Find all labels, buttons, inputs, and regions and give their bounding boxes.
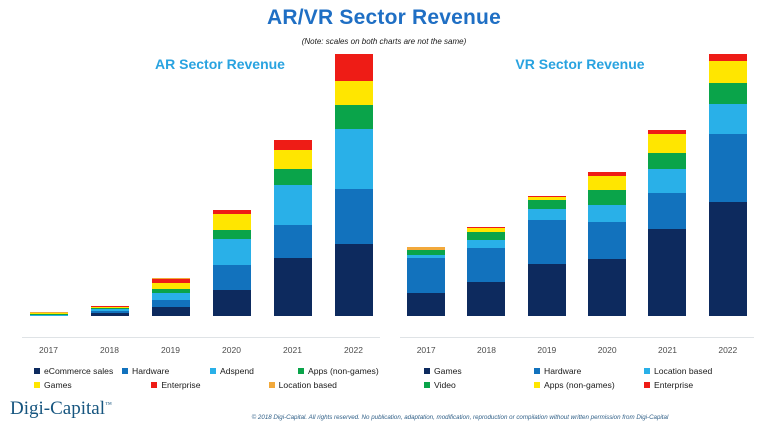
legend-swatch-icon: [534, 368, 540, 374]
x-tick-label: 2022: [323, 340, 384, 360]
bar-segment[interactable]: [213, 290, 251, 316]
ar-bar-slot-2022: [323, 88, 384, 316]
scale-note: (Note: scales on both charts are not the…: [0, 37, 768, 46]
ar-bar-slot-2020: [201, 88, 262, 316]
bar-segment[interactable]: [335, 105, 373, 129]
legend-label: Apps (non-games): [308, 366, 379, 376]
bar-segment[interactable]: [152, 300, 190, 307]
bar-segment[interactable]: [274, 140, 312, 149]
legend-item[interactable]: Enterprise: [644, 380, 754, 390]
x-tick-label: 2019: [517, 340, 577, 360]
legend-item[interactable]: Apps (non-games): [534, 380, 644, 390]
vr-legend: GamesHardwareLocation basedVideoApps (no…: [424, 366, 754, 394]
slide: AR/VR Sector Revenue (Note: scales on bo…: [0, 0, 768, 432]
stacked-bar[interactable]: [152, 278, 190, 316]
ar-chart: 201720182019202020212022: [18, 88, 384, 360]
bar-segment[interactable]: [588, 205, 626, 222]
bar-segment[interactable]: [528, 264, 566, 316]
bar-segment[interactable]: [709, 134, 747, 202]
ar-bar-slot-2018: [79, 88, 140, 316]
bar-segment[interactable]: [648, 153, 686, 170]
legend-item[interactable]: eCommerce sales: [34, 366, 122, 376]
bar-segment[interactable]: [91, 313, 129, 316]
legend-item[interactable]: Adspend: [210, 366, 298, 376]
bar-segment[interactable]: [709, 61, 747, 83]
x-tick-label: 2018: [79, 340, 140, 360]
bar-segment[interactable]: [528, 220, 566, 264]
stacked-bar[interactable]: [407, 247, 445, 316]
legend-item[interactable]: Location based: [269, 380, 386, 390]
legend-label: Adspend: [220, 366, 254, 376]
legend-label: Location based: [654, 366, 712, 376]
bar-segment[interactable]: [709, 54, 747, 61]
legend-item[interactable]: Enterprise: [151, 380, 268, 390]
x-tick-label: 2017: [18, 340, 79, 360]
legend-swatch-icon: [644, 368, 650, 374]
ar-legend-row: eCommerce salesHardwareAdspendApps (non-…: [34, 366, 386, 376]
ar-chart-title: AR Sector Revenue: [60, 56, 380, 72]
bar-segment[interactable]: [467, 232, 505, 239]
vr-chart: 201720182019202020212022: [396, 88, 758, 360]
legend-item[interactable]: Location based: [644, 366, 754, 376]
legend-item[interactable]: Games: [34, 380, 151, 390]
bar-segment[interactable]: [30, 315, 68, 316]
legend-item[interactable]: Hardware: [534, 366, 644, 376]
company-logo-text: Digi-Capital: [10, 398, 105, 419]
vr-axis-line: [400, 337, 754, 338]
legend-swatch-icon: [122, 368, 128, 374]
stacked-bar[interactable]: [528, 196, 566, 316]
bar-segment[interactable]: [709, 202, 747, 316]
legend-label: Enterprise: [654, 380, 693, 390]
legend-swatch-icon: [151, 382, 157, 388]
bar-segment[interactable]: [335, 189, 373, 244]
bar-segment[interactable]: [648, 134, 686, 153]
bar-segment[interactable]: [335, 54, 373, 81]
bar-segment[interactable]: [274, 150, 312, 170]
bar-segment[interactable]: [407, 293, 445, 316]
legend-label: Location based: [279, 380, 337, 390]
bar-segment[interactable]: [213, 230, 251, 239]
ar-bar-slot-2021: [262, 88, 323, 316]
copyright-text: © 2018 Digi-Capital. All rights reserved…: [160, 414, 760, 421]
bar-segment[interactable]: [648, 169, 686, 193]
vr-bar-slot-2018: [456, 88, 516, 316]
legend-label: Games: [44, 380, 72, 390]
x-tick-label: 2018: [456, 340, 516, 360]
vr-bar-slot-2017: [396, 88, 456, 316]
vr-legend-row: VideoApps (non-games)Enterprise: [424, 380, 754, 390]
legend-swatch-icon: [424, 382, 430, 388]
x-tick-label: 2020: [577, 340, 637, 360]
company-logo: Digi-Capital™: [10, 398, 112, 420]
x-tick-label: 2019: [140, 340, 201, 360]
vr-plot-area: [396, 88, 758, 338]
bar-segment[interactable]: [588, 190, 626, 205]
vr-bar-slot-2021: [637, 88, 697, 316]
vr-bar-slot-2020: [577, 88, 637, 316]
ar-legend-row: GamesEnterpriseLocation based: [34, 380, 386, 390]
ar-bar-group: [18, 88, 384, 316]
legend-label: Hardware: [544, 366, 581, 376]
trademark-mark: ™: [105, 401, 112, 409]
legend-label: Enterprise: [161, 380, 200, 390]
bar-segment[interactable]: [335, 129, 373, 189]
bar-segment[interactable]: [467, 240, 505, 248]
bar-segment[interactable]: [648, 229, 686, 316]
stacked-bar[interactable]: [274, 140, 312, 316]
legend-swatch-icon: [34, 382, 40, 388]
ar-legend: eCommerce salesHardwareAdspendApps (non-…: [34, 366, 386, 394]
bar-segment[interactable]: [467, 282, 505, 316]
legend-swatch-icon: [424, 368, 430, 374]
bar-segment[interactable]: [709, 104, 747, 133]
legend-item[interactable]: Games: [424, 366, 534, 376]
ar-bar-slot-2019: [140, 88, 201, 316]
x-tick-label: 2020: [201, 340, 262, 360]
bar-segment[interactable]: [588, 222, 626, 260]
legend-label: Apps (non-games): [544, 380, 615, 390]
bar-segment[interactable]: [274, 225, 312, 259]
vr-bar-slot-2019: [517, 88, 577, 316]
ar-plot-area: [18, 88, 384, 338]
stacked-bar[interactable]: [648, 130, 686, 317]
legend-label: Hardware: [132, 366, 169, 376]
bar-segment[interactable]: [528, 200, 566, 209]
legend-item[interactable]: Apps (non-games): [298, 366, 386, 376]
legend-swatch-icon: [210, 368, 216, 374]
stacked-bar[interactable]: [30, 312, 68, 316]
legend-label: Video: [434, 380, 456, 390]
stacked-bar[interactable]: [709, 54, 747, 316]
bar-segment[interactable]: [213, 239, 251, 265]
legend-item[interactable]: Video: [424, 380, 534, 390]
x-tick-label: 2017: [396, 340, 456, 360]
x-tick-label: 2022: [698, 340, 758, 360]
vr-chart-title: VR Sector Revenue: [420, 56, 740, 72]
stacked-bar[interactable]: [213, 210, 251, 316]
bar-segment[interactable]: [588, 176, 626, 191]
legend-swatch-icon: [298, 368, 304, 374]
stacked-bar[interactable]: [335, 54, 373, 316]
legend-label: eCommerce sales: [44, 366, 113, 376]
ar-bar-slot-2017: [18, 88, 79, 316]
bar-segment[interactable]: [335, 81, 373, 106]
bar-segment[interactable]: [648, 193, 686, 229]
bar-segment[interactable]: [588, 259, 626, 316]
bar-segment[interactable]: [407, 258, 445, 293]
ar-axis-line: [22, 337, 380, 338]
vr-x-axis-labels: 201720182019202020212022: [396, 340, 758, 360]
bar-segment[interactable]: [528, 209, 566, 219]
bar-segment[interactable]: [274, 169, 312, 184]
legend-label: Games: [434, 366, 462, 376]
bar-segment[interactable]: [213, 265, 251, 291]
bar-segment[interactable]: [213, 214, 251, 229]
vr-legend-row: GamesHardwareLocation based: [424, 366, 754, 376]
bar-segment[interactable]: [274, 258, 312, 316]
legend-swatch-icon: [34, 368, 40, 374]
bar-segment[interactable]: [709, 83, 747, 104]
legend-item[interactable]: Hardware: [122, 366, 210, 376]
stacked-bar[interactable]: [91, 306, 129, 316]
x-tick-label: 2021: [637, 340, 697, 360]
bar-segment[interactable]: [274, 185, 312, 225]
page-title: AR/VR Sector Revenue: [0, 6, 768, 30]
legend-swatch-icon: [644, 382, 650, 388]
legend-swatch-icon: [269, 382, 275, 388]
bar-segment[interactable]: [335, 244, 373, 316]
ar-x-axis-labels: 201720182019202020212022: [18, 340, 384, 360]
x-tick-label: 2021: [262, 340, 323, 360]
vr-bar-slot-2022: [698, 88, 758, 316]
stacked-bar[interactable]: [588, 172, 626, 316]
vr-bar-group: [396, 88, 758, 316]
bar-segment[interactable]: [152, 307, 190, 316]
legend-swatch-icon: [534, 382, 540, 388]
bar-segment[interactable]: [467, 248, 505, 283]
stacked-bar[interactable]: [467, 227, 505, 316]
